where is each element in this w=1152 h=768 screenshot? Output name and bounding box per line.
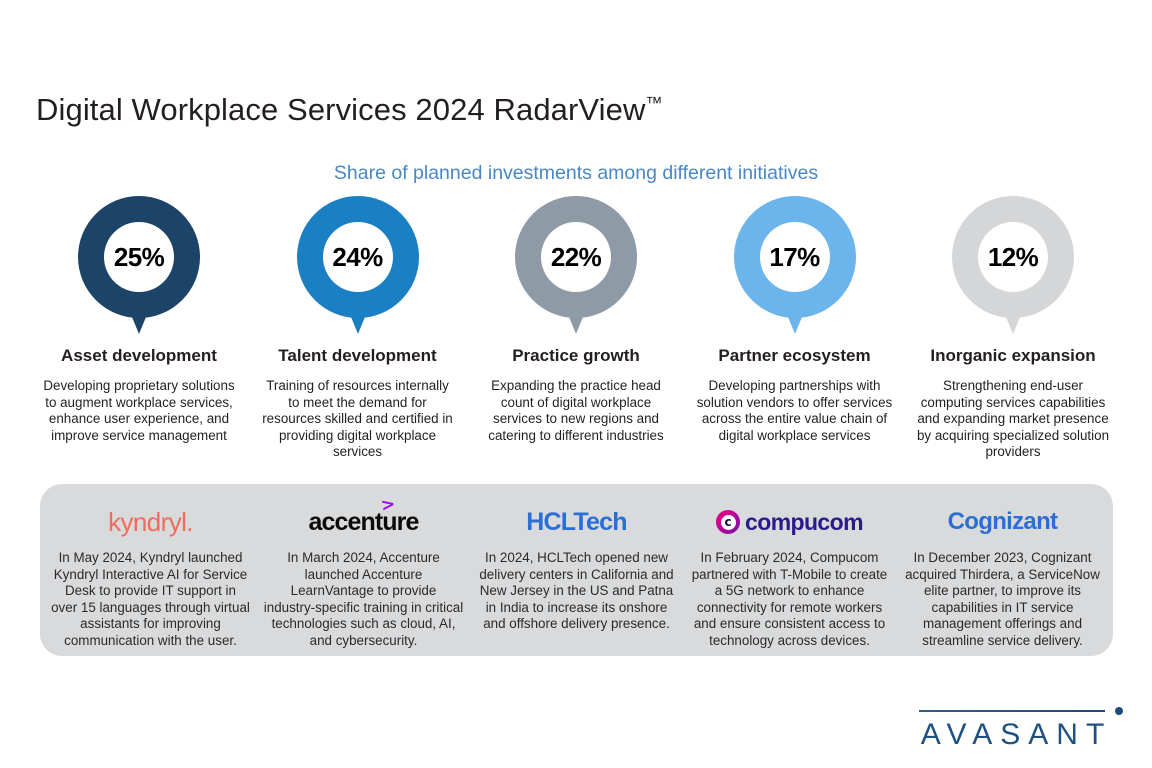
vendor-description: In 2024, HCLTech opened new delivery cen… (477, 550, 677, 633)
initiative-heading: Practice growth (512, 346, 640, 366)
vendor-highlights-panel: kyndryl. In May 2024, Kyndryl launched K… (40, 484, 1113, 656)
initiative-percent: 22% (551, 242, 601, 273)
initiative-heading: Inorganic expansion (930, 346, 1095, 366)
initiative-column-talent-development: 24% Talent development Training of resou… (255, 196, 461, 461)
hcltech-logo-text: HCLTech (526, 508, 626, 537)
compucom-logo-wrap: c compucom (716, 509, 863, 536)
initiative-percent: 12% (988, 242, 1038, 273)
initiative-heading: Asset development (61, 346, 217, 366)
avasant-logo: AVASANT (909, 696, 1124, 756)
initiative-column-inorganic-expansion: 12% Inorganic expansion Strengthening en… (910, 196, 1116, 461)
vendor-description: In February 2024, Compucom partnered wit… (690, 550, 890, 650)
map-pin-icon: 12% (952, 196, 1074, 338)
initiative-percent: 24% (332, 242, 382, 273)
compucom-logo: c compucom (716, 502, 863, 542)
page-title-text: Digital Workplace Services 2024 RadarVie… (36, 92, 645, 127)
initiative-percent: 17% (769, 242, 819, 273)
vendor-column-compucom: c compucom In February 2024, Compucom pa… (687, 484, 892, 656)
hcltech-logo: HCLTech (526, 502, 626, 542)
vendor-column-kyndryl: kyndryl. In May 2024, Kyndryl launched K… (48, 484, 253, 656)
accenture-logo-wrap: accenture > (308, 508, 418, 537)
initiative-description: Strengthening end-user computing service… (915, 378, 1111, 461)
initiative-percent: 25% (114, 242, 164, 273)
map-pin-icon: 25% (78, 196, 200, 338)
map-pin-ring: 24% (297, 196, 419, 318)
map-pin-hole: 22% (541, 222, 611, 292)
compucom-circle-mark-icon: c (716, 510, 740, 534)
page-title: Digital Workplace Services 2024 RadarVie… (36, 92, 663, 128)
initiative-description: Developing partnerships with solution ve… (697, 378, 893, 444)
trademark-symbol: ™ (645, 94, 662, 113)
map-pin-ring: 12% (952, 196, 1074, 318)
cognizant-logo: Cognizant (948, 502, 1058, 542)
accenture-logo: accenture > (308, 502, 418, 542)
initiative-heading: Talent development (278, 346, 436, 366)
vendor-row: kyndryl. In May 2024, Kyndryl launched K… (40, 484, 1113, 656)
initiative-column-practice-growth: 22% Practice growth Expanding the practi… (473, 196, 679, 444)
kyndryl-logo-dot-icon: . (186, 507, 193, 538)
map-pin-icon: 24% (297, 196, 419, 338)
initiative-description: Training of resources internally to meet… (260, 378, 456, 461)
vendor-description: In May 2024, Kyndryl launched Kyndryl In… (51, 550, 251, 650)
map-pin-hole: 24% (323, 222, 393, 292)
map-pin-ring: 25% (78, 196, 200, 318)
vendor-description: In December 2023, Cognizant acquired Thi… (903, 550, 1103, 650)
map-pin-hole: 17% (760, 222, 830, 292)
avasant-logo-text: AVASANT (909, 718, 1124, 752)
initiatives-row: 25% Asset development Developing proprie… (36, 196, 1116, 461)
initiative-description: Expanding the practice head count of dig… (478, 378, 674, 444)
vendor-column-cognizant: Cognizant In December 2023, Cognizant ac… (900, 484, 1105, 656)
map-pin-ring: 17% (734, 196, 856, 318)
vendor-column-hcltech: HCLTech In 2024, HCLTech opened new deli… (474, 484, 679, 656)
map-pin-icon: 17% (734, 196, 856, 338)
cognizant-logo-text: Cognizant (948, 508, 1058, 536)
accenture-logo-text: accenture (308, 508, 418, 536)
compucom-logo-text: compucom (745, 509, 863, 536)
initiative-heading: Partner ecosystem (718, 346, 870, 366)
vendor-description: In March 2024, Accenture launched Accent… (264, 550, 464, 650)
kyndryl-logo-text: kyndryl (108, 507, 186, 538)
map-pin-hole: 25% (104, 222, 174, 292)
chart-subtitle: Share of planned investments among diffe… (0, 162, 1152, 185)
initiative-description: Developing proprietary solutions to augm… (41, 378, 237, 444)
map-pin-ring: 22% (515, 196, 637, 318)
map-pin-hole: 12% (978, 222, 1048, 292)
compucom-letter-c-icon: c (721, 515, 736, 530)
avasant-logo-dot-icon (1115, 707, 1123, 715)
map-pin-icon: 22% (515, 196, 637, 338)
avasant-logo-bar-icon (919, 710, 1105, 712)
kyndryl-logo: kyndryl. (108, 502, 193, 542)
vendor-column-accenture: accenture > In March 2024, Accenture lau… (261, 484, 466, 656)
initiative-column-partner-ecosystem: 17% Partner ecosystem Developing partner… (692, 196, 898, 444)
accenture-chevron-icon: > (380, 494, 397, 516)
initiative-column-asset-development: 25% Asset development Developing proprie… (36, 196, 242, 444)
